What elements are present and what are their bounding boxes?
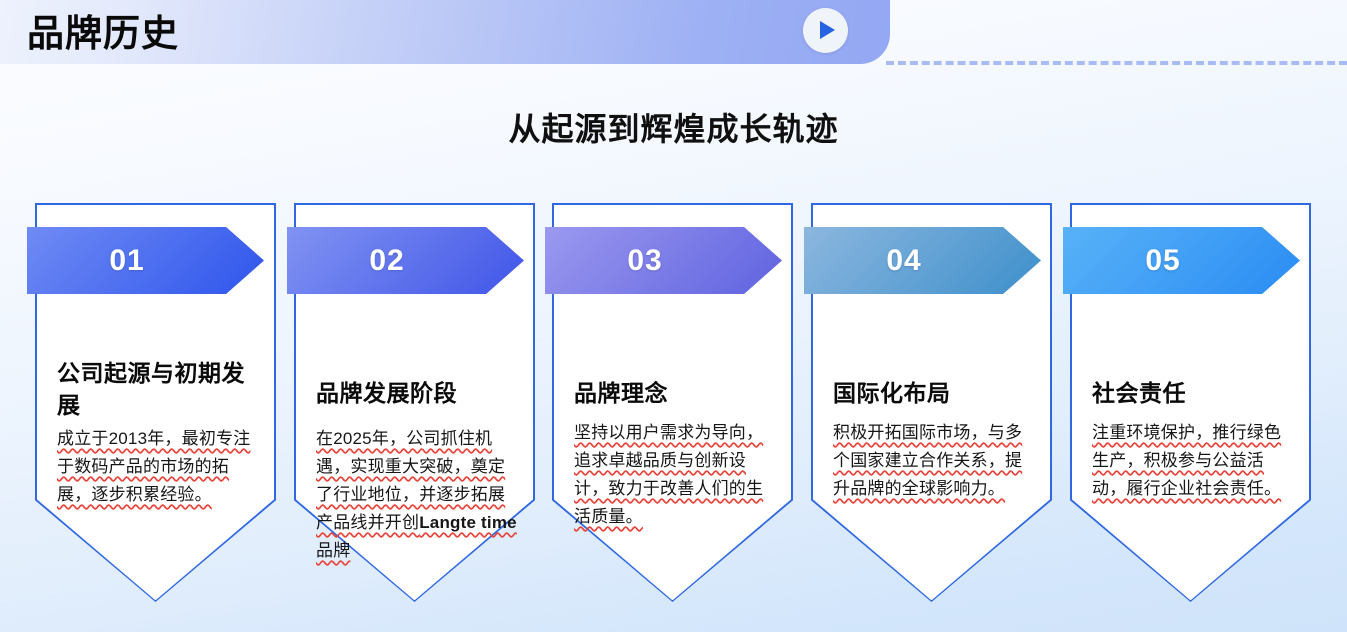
timeline-card-3-title: 品牌理念 [574, 377, 774, 409]
header-dashed-divider [886, 61, 1347, 65]
timeline-card-3-number-banner: 03 [545, 227, 782, 294]
timeline-card-5-number-banner: 05 [1063, 227, 1300, 294]
section-subtitle: 从起源到辉煌成长轨迹 [0, 104, 1347, 150]
timeline-card-1-title: 公司起源与初期发展 [57, 357, 257, 421]
timeline-card-5-number: 05 [1063, 244, 1263, 278]
timeline-card-3-number: 03 [545, 244, 745, 278]
play-icon [820, 21, 835, 39]
timeline-card-2-desc-post: 品牌 [316, 541, 350, 560]
timeline-card-2-title: 品牌发展阶段 [316, 377, 516, 409]
timeline-card-1-number: 01 [27, 244, 227, 278]
timeline-card-1-number-banner: 01 [27, 227, 264, 294]
play-button[interactable] [803, 8, 848, 53]
timeline-card-4-number: 04 [804, 244, 1004, 278]
timeline-card-5-desc: 注重环境保护，推行绿色生产，积极参与公益活动，履行企业社会责任。 [1092, 419, 1290, 503]
timeline-card-2-desc: 在2025年，公司抓住机遇，实现重大突破，奠定了行业地位，并逐步拓展产品线并开创… [316, 425, 520, 565]
timeline-card-5-title: 社会责任 [1092, 377, 1292, 409]
timeline-card-2-number: 02 [287, 244, 487, 278]
timeline-card-4-number-banner: 04 [804, 227, 1041, 294]
timeline-card-4-title: 国际化布局 [833, 377, 1033, 409]
page-title: 品牌历史 [27, 8, 179, 60]
timeline-card-3-desc: 坚持以用户需求为导向，追求卓越品质与创新设计，致力于改善人们的生活质量。 [574, 419, 764, 531]
timeline-card-1-desc: 成立于2013年，最初专注于数码产品的市场的拓展，逐步积累经验。 [57, 425, 261, 509]
timeline-card-4-desc: 积极开拓国际市场，与多个国家建立合作关系，提升品牌的全球影响力。 [833, 419, 1031, 503]
slide-canvas: 品牌历史 从起源到辉煌成长轨迹 01 公司起源与初期发展 成立于2013年，最初… [0, 0, 1347, 632]
timeline-card-2-desc-brand: Langte time [419, 513, 517, 532]
timeline-card-2-number-banner: 02 [287, 227, 524, 294]
